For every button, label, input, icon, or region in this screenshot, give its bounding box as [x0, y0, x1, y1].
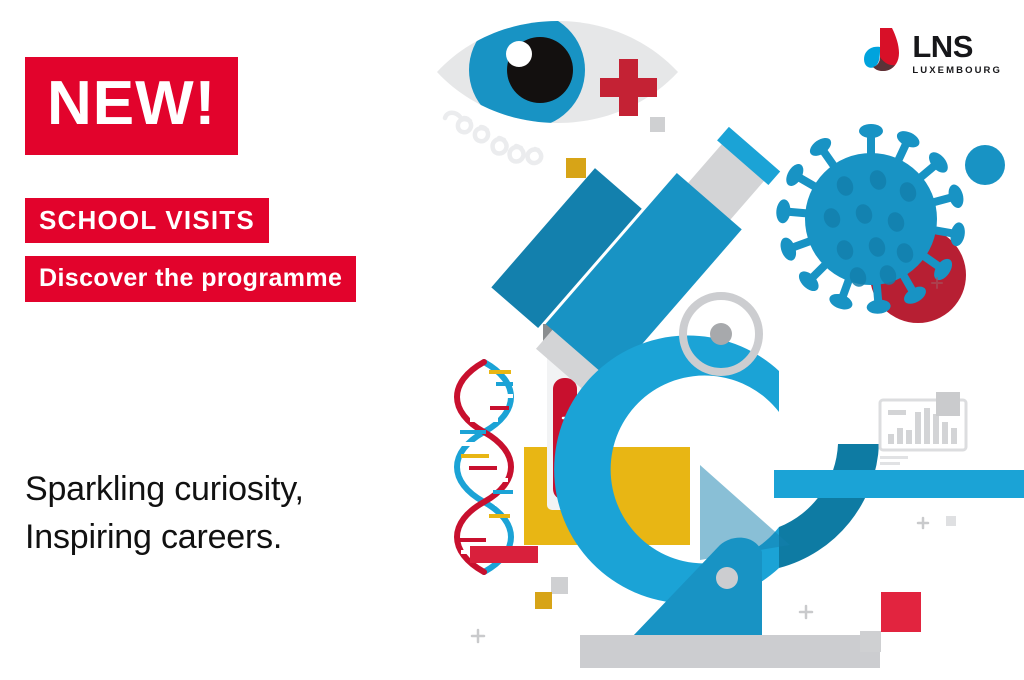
microscope-stage — [774, 470, 1024, 498]
eye-icon — [437, 12, 678, 128]
red-bar-shape — [470, 546, 538, 563]
eyelash-squiggle-icon — [445, 113, 541, 163]
microscope-baseplate — [580, 635, 880, 668]
tagline: Sparkling curiosity, Inspiring careers. — [25, 465, 304, 562]
badge-new: NEW! — [25, 57, 238, 155]
grey-square-icon — [946, 516, 956, 526]
teal-circle-icon — [965, 145, 1005, 185]
grey-square-icon — [936, 392, 960, 416]
lns-logo[interactable]: LNS LUXEMBOURG — [863, 26, 1002, 80]
tagline-line-2: Inspiring careers. — [25, 513, 304, 561]
plus-marker-icon — [472, 630, 484, 642]
badge-school-visits: SCHOOL VISITS — [25, 198, 269, 243]
grey-square-icon — [860, 631, 881, 652]
logo-name: LNS — [912, 31, 1002, 62]
plus-marker-icon — [918, 518, 928, 528]
yellow-square-icon — [566, 158, 586, 178]
yellow-square-icon — [535, 592, 552, 609]
grey-square-icon — [551, 577, 568, 594]
logo-text-block: LNS LUXEMBOURG — [912, 31, 1002, 76]
grey-square-icon — [650, 117, 665, 132]
badge-discover-programme[interactable]: Discover the programme — [25, 256, 356, 302]
logo-subtitle: LUXEMBOURG — [912, 66, 1002, 76]
red-square-icon — [881, 592, 921, 632]
poster-canvas: LNS LUXEMBOURG NEW! SCHOOL VISITS Discov… — [0, 0, 1024, 680]
base-knob-icon — [716, 567, 738, 589]
tagline-line-1: Sparkling curiosity, — [25, 465, 304, 513]
plus-marker-icon — [800, 606, 812, 618]
droplet-icon — [863, 26, 903, 80]
dna-helix-icon — [457, 362, 513, 572]
virus-icon — [775, 124, 966, 323]
